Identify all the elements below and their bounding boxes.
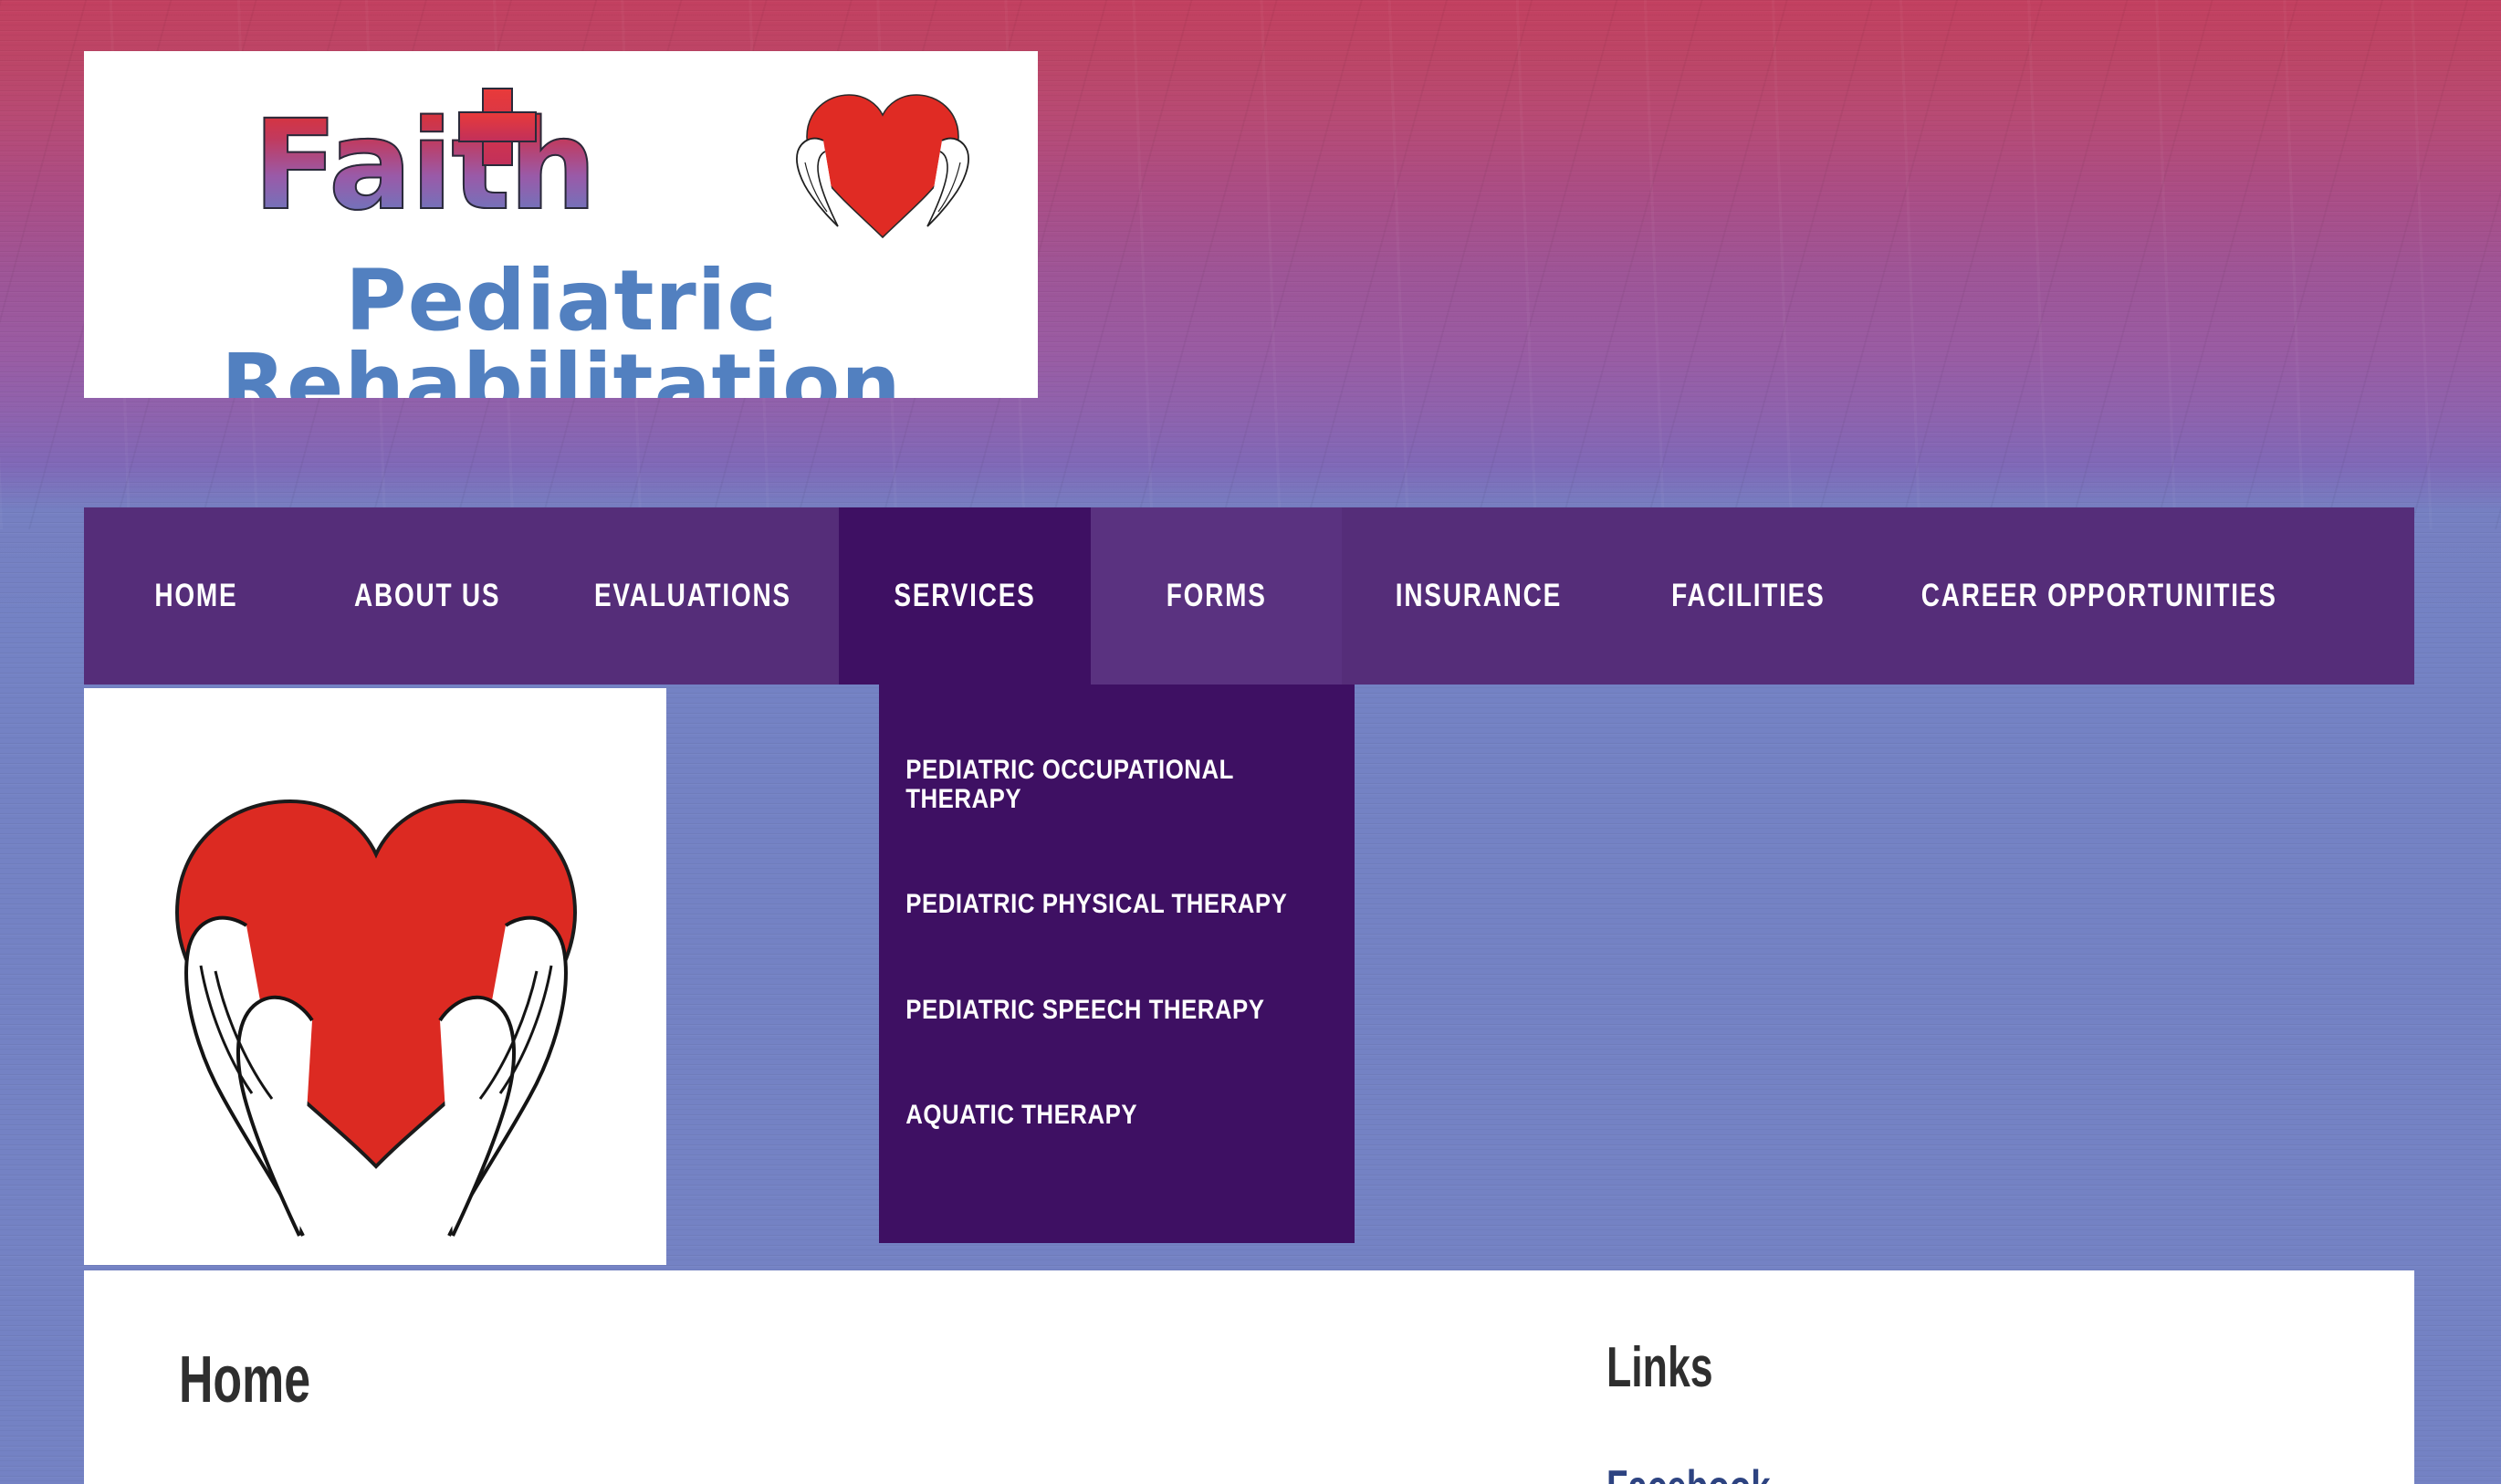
- nav-item-evaluations-label: EVALUATIONS: [594, 507, 791, 685]
- dropdown-item-pediatric-speech-therapy[interactable]: PEDIATRIC SPEECH THERAPY: [879, 996, 1354, 1025]
- heart-in-hands-icon: [759, 75, 1006, 248]
- main-navigation: HOME ABOUT US EVALUATIONS SERVICES FORMS…: [84, 507, 2414, 685]
- logo-subtitle: Pediatric Rehabilitation: [100, 259, 1022, 398]
- dropdown-item-pediatric-physical-therapy[interactable]: PEDIATRIC PHYSICAL THERAPY: [879, 890, 1354, 919]
- dropdown-item-aquatic-therapy[interactable]: AQUATIC THERAPY: [879, 1101, 1354, 1130]
- nav-item-home-label: HOME: [154, 507, 237, 685]
- nav-item-insurance-label: INSURANCE: [1396, 507, 1562, 685]
- nav-item-facilities[interactable]: FACILITIES: [1616, 507, 1880, 685]
- medical-cross-icon: [458, 88, 533, 162]
- nav-item-facilities-label: FACILITIES: [1671, 507, 1826, 685]
- nav-item-services-label: SERVICES: [894, 507, 1035, 685]
- nav-item-forms-label: FORMS: [1167, 507, 1267, 685]
- dropdown-item-pediatric-occupational-therapy[interactable]: PEDIATRIC OCCUPATIONAL THERAPY: [879, 756, 1354, 813]
- page-title: Home: [179, 1347, 310, 1413]
- heart-in-hands-illustration: [93, 692, 659, 1258]
- nav-item-evaluations[interactable]: EVALUATIONS: [547, 507, 839, 685]
- nav-item-services[interactable]: SERVICES: [839, 507, 1091, 685]
- nav-item-about-us[interactable]: ABOUT US: [308, 507, 547, 685]
- nav-item-career-opportunities-label: CAREER OPPORTUNITIES: [1921, 507, 2277, 685]
- hero-image-card: [84, 688, 666, 1265]
- page-root: Faith Pediatric Rehabilitation HOME ABOU…: [0, 0, 2501, 1484]
- site-logo-banner[interactable]: Faith Pediatric Rehabilitation: [84, 51, 1038, 398]
- links-list: Facebook: [1606, 1464, 2154, 1484]
- nav-item-career-opportunities[interactable]: CAREER OPPORTUNITIES: [1880, 507, 2318, 685]
- nav-item-forms[interactable]: FORMS: [1091, 507, 1342, 685]
- links-section-title: Links: [1606, 1340, 1713, 1396]
- nav-item-about-us-label: ABOUT US: [354, 507, 500, 685]
- content-panel: Home Links Facebook: [84, 1270, 2414, 1484]
- logo-wordmark: Faith: [253, 104, 595, 228]
- nav-item-insurance[interactable]: INSURANCE: [1342, 507, 1616, 685]
- link-item-facebook[interactable]: Facebook: [1606, 1464, 1771, 1484]
- services-dropdown-menu: PEDIATRIC OCCUPATIONAL THERAPY PEDIATRIC…: [879, 685, 1355, 1243]
- nav-item-home[interactable]: HOME: [84, 507, 308, 685]
